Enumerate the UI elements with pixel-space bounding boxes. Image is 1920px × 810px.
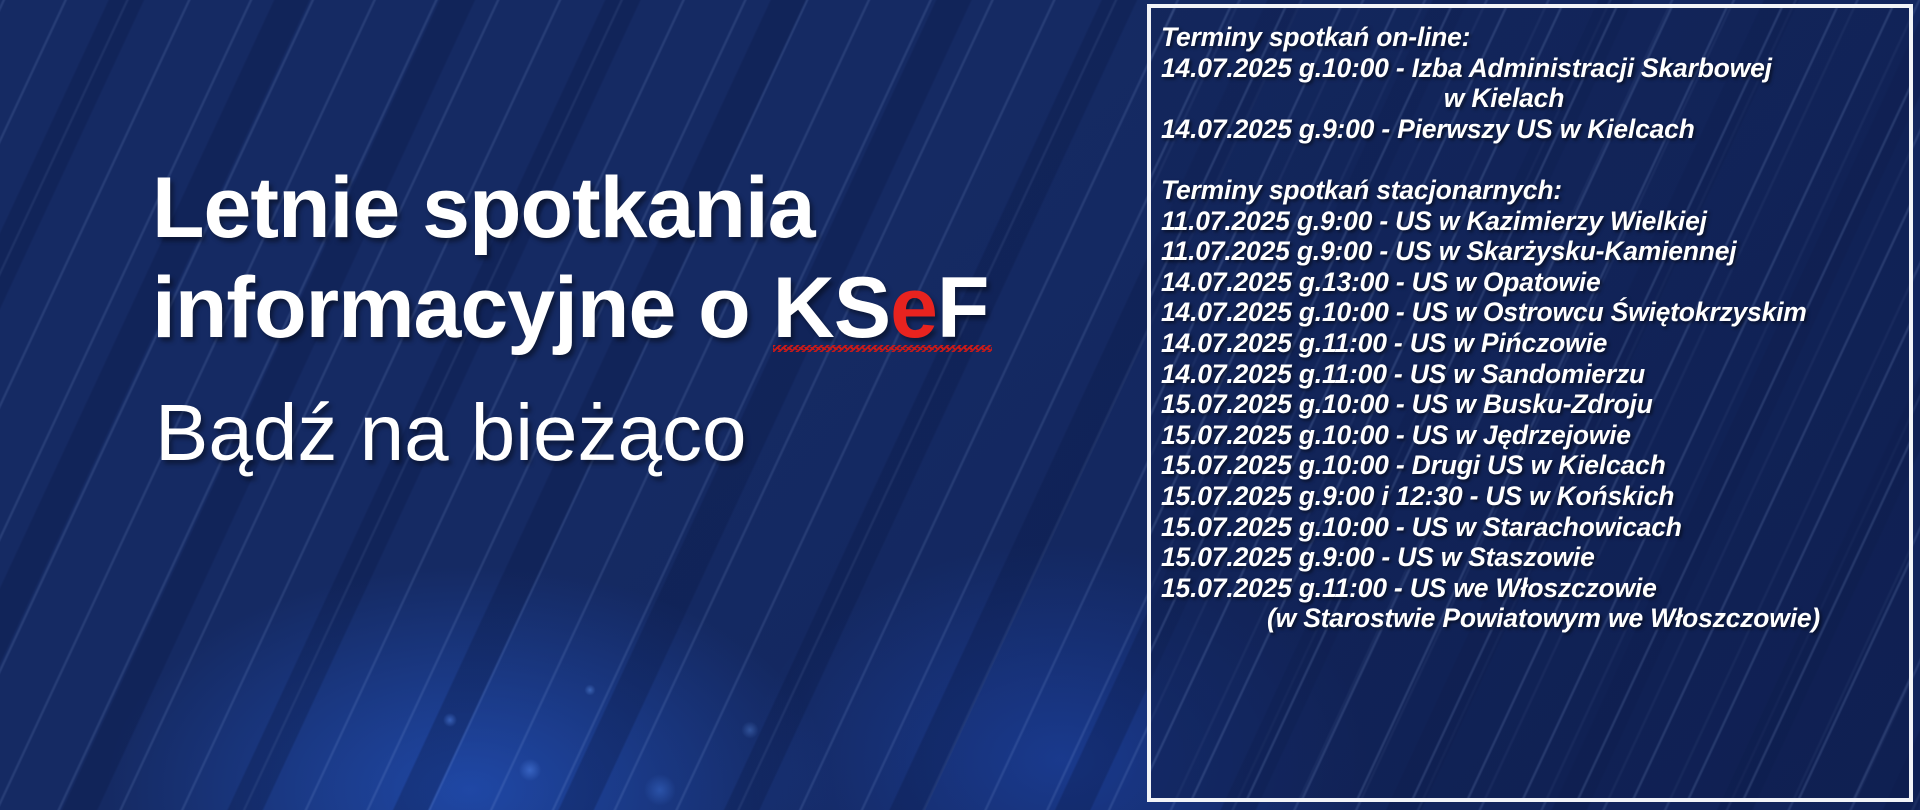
stationary-meeting-item: 15.07.2025 g.10:00 - US w Starachowicach xyxy=(1161,512,1901,543)
stationary-meeting-item: 15.07.2025 g.11:00 - US we Włoszczowie xyxy=(1161,573,1901,604)
stationary-meeting-item: 15.07.2025 g.10:00 - US w Busku-Zdroju xyxy=(1161,389,1901,420)
headline-block: Letnie spotkania informacyjne o KSeF Bąd… xyxy=(0,0,1140,810)
section-spacer xyxy=(1161,144,1901,175)
schedule-panel: Terminy spotkań on-line: 14.07.2025 g.10… xyxy=(1147,4,1913,802)
stationary-meeting-item: 14.07.2025 g.10:00 - US w Ostrowcu Święt… xyxy=(1161,297,1901,328)
headline-line-1: Letnie spotkania xyxy=(152,158,1082,258)
page-subtitle: Bądź na bieżąco xyxy=(155,385,747,481)
ksef-wordmark: KSeF xyxy=(773,258,989,358)
stationary-meeting-item: 15.07.2025 g.10:00 - US w Jędrzejowie xyxy=(1161,420,1901,451)
spellcheck-squiggle-underline xyxy=(773,345,993,352)
stationary-meeting-item: 15.07.2025 g.9:00 i 12:30 - US w Końskic… xyxy=(1161,481,1901,512)
stationary-meetings-heading: Terminy spotkań stacjonarnych: xyxy=(1161,175,1901,206)
online-meetings-heading: Terminy spotkań on-line: xyxy=(1161,22,1901,53)
stationary-meeting-item: 14.07.2025 g.13:00 - US w Opatowie xyxy=(1161,267,1901,298)
poster-canvas: Letnie spotkania informacyjne o KSeF Bąd… xyxy=(0,0,1920,810)
online-meeting-item: 14.07.2025 g.9:00 - Pierwszy US w Kielca… xyxy=(1161,114,1901,145)
headline-line-2-prefix: informacyjne o xyxy=(152,260,773,356)
schedule-panel-content: Terminy spotkań on-line: 14.07.2025 g.10… xyxy=(1151,8,1909,644)
stationary-meeting-item-continuation: (w Starostwie Powiatowym we Włoszczowie) xyxy=(1161,603,1901,634)
online-meeting-item: 14.07.2025 g.10:00 - Izba Administracji … xyxy=(1161,53,1901,84)
ksef-ks: KS xyxy=(773,260,890,356)
ksef-f: F xyxy=(937,260,989,356)
stationary-meeting-item: 15.07.2025 g.9:00 - US w Staszowie xyxy=(1161,542,1901,573)
stationary-meeting-item: 11.07.2025 g.9:00 - US w Kazimierzy Wiel… xyxy=(1161,206,1901,237)
page-title: Letnie spotkania informacyjne o KSeF xyxy=(152,158,1082,358)
ksef-red-e: e xyxy=(890,260,937,356)
stationary-meeting-item: 14.07.2025 g.11:00 - US w Pińczowie xyxy=(1161,328,1901,359)
headline-line-2: informacyjne o KSeF xyxy=(152,258,1082,358)
stationary-meeting-item: 14.07.2025 g.11:00 - US w Sandomierzu xyxy=(1161,359,1901,390)
stationary-meeting-item: 11.07.2025 g.9:00 - US w Skarżysku-Kamie… xyxy=(1161,236,1901,267)
stationary-meeting-item: 15.07.2025 g.10:00 - Drugi US w Kielcach xyxy=(1161,450,1901,481)
online-meeting-item-continuation: w Kielach xyxy=(1161,83,1901,114)
